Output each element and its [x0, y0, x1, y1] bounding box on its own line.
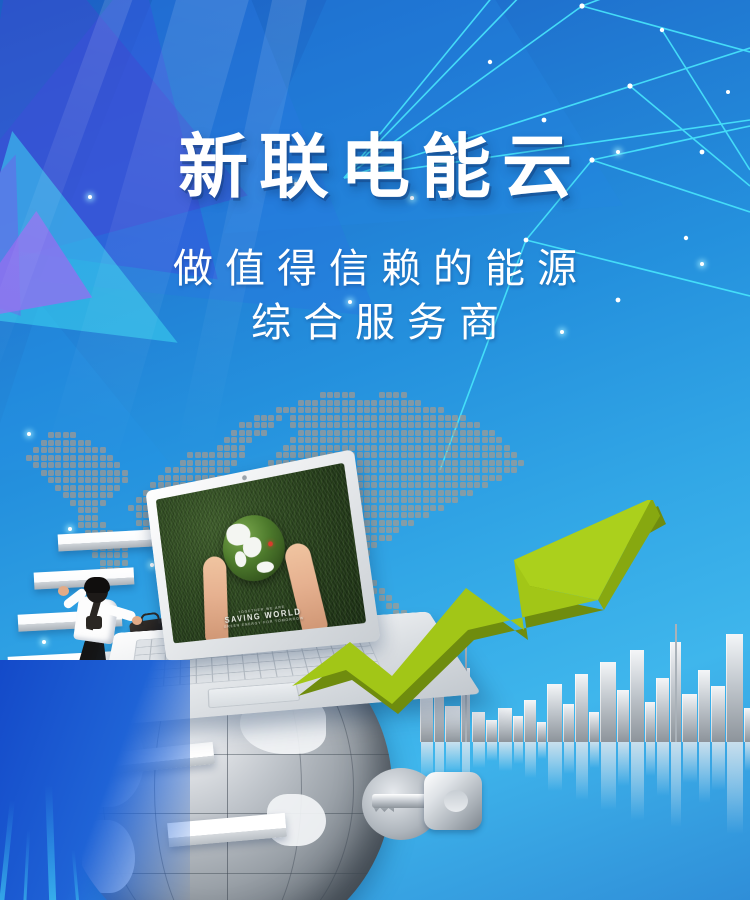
map-dot — [393, 415, 399, 421]
map-dot — [445, 490, 451, 496]
map-dot — [518, 460, 524, 466]
map-dot — [78, 470, 84, 476]
map-dot — [231, 445, 237, 451]
map-dot — [357, 407, 363, 413]
map-dot — [415, 407, 421, 413]
map-dot — [415, 430, 421, 436]
map-dot — [408, 460, 414, 466]
map-dot — [438, 445, 444, 451]
map-dot — [357, 430, 363, 436]
map-dot — [445, 452, 451, 458]
map-dot — [78, 492, 84, 498]
map-dot — [489, 460, 495, 466]
map-dot — [460, 460, 466, 466]
map-dot — [371, 445, 377, 451]
map-dot — [298, 430, 304, 436]
map-dot — [107, 470, 113, 476]
map-dot — [342, 422, 348, 428]
map-dot — [33, 462, 39, 468]
map-dot — [55, 485, 61, 491]
map-dot — [364, 400, 370, 406]
map-dot — [364, 430, 370, 436]
map-dot — [452, 437, 458, 443]
map-dot — [415, 400, 421, 406]
map-dot — [85, 500, 91, 506]
map-dot — [438, 407, 444, 413]
map-dot — [460, 415, 466, 421]
map-dot — [209, 460, 215, 466]
map-dot — [312, 415, 318, 421]
map-dot — [55, 470, 61, 476]
map-dot — [85, 522, 91, 528]
map-dot — [371, 430, 377, 436]
promo-poster: 新联电能云 做值得信赖的能源 综合服务商 — [0, 0, 750, 900]
map-dot — [305, 437, 311, 443]
map-dot — [467, 430, 473, 436]
map-dot — [55, 455, 61, 461]
map-dot — [320, 437, 326, 443]
map-dot — [423, 415, 429, 421]
map-dot — [423, 452, 429, 458]
map-dot — [327, 392, 333, 398]
map-dot — [298, 445, 304, 451]
map-dot — [85, 515, 91, 521]
map-dot — [460, 437, 466, 443]
map-dot — [460, 475, 466, 481]
map-dot — [393, 445, 399, 451]
map-dot — [327, 437, 333, 443]
map-dot — [290, 422, 296, 428]
map-dot — [85, 507, 91, 513]
map-dot — [342, 392, 348, 398]
map-dot — [379, 445, 385, 451]
map-dot — [371, 407, 377, 413]
map-dot — [452, 430, 458, 436]
map-dot — [460, 482, 466, 488]
map-dot — [371, 400, 377, 406]
map-dot — [305, 400, 311, 406]
map-dot — [504, 460, 510, 466]
map-dot — [290, 407, 296, 413]
map-dot — [423, 460, 429, 466]
map-dot — [401, 430, 407, 436]
map-dot — [474, 437, 480, 443]
map-dot — [276, 415, 282, 421]
map-dot — [48, 455, 54, 461]
map-dot — [482, 482, 488, 488]
map-dot — [327, 422, 333, 428]
map-dot — [342, 407, 348, 413]
map-dot — [92, 500, 98, 506]
screen-continent — [256, 561, 274, 574]
map-dot — [85, 485, 91, 491]
map-dot — [209, 452, 215, 458]
map-dot — [290, 415, 296, 421]
map-dot — [100, 447, 106, 453]
map-dot — [460, 422, 466, 428]
map-dot — [231, 430, 237, 436]
corner-gradient — [0, 660, 190, 900]
tagline-container: 做值得信赖的能源 综合服务商 — [0, 243, 750, 350]
map-dot — [239, 445, 245, 451]
map-dot — [224, 452, 230, 458]
laptop-trackpad — [208, 682, 301, 708]
map-dot — [246, 422, 252, 428]
map-dot — [55, 462, 61, 468]
map-dot — [261, 430, 267, 436]
map-dot — [401, 445, 407, 451]
map-dot — [357, 460, 363, 466]
map-dot — [239, 422, 245, 428]
map-dot — [386, 452, 392, 458]
map-dot — [386, 437, 392, 443]
map-dot — [452, 445, 458, 451]
map-dot — [467, 460, 473, 466]
map-dot — [408, 452, 414, 458]
map-dot — [408, 400, 414, 406]
map-dot — [334, 430, 340, 436]
map-dot — [305, 415, 311, 421]
map-dot — [100, 477, 106, 483]
map-dot — [386, 407, 392, 413]
map-dot — [474, 475, 480, 481]
map-dot — [482, 460, 488, 466]
map-dot — [460, 445, 466, 451]
map-dot — [393, 437, 399, 443]
map-dot — [408, 437, 414, 443]
light-streak — [0, 800, 15, 900]
map-dot — [511, 452, 517, 458]
map-dot — [239, 437, 245, 443]
map-dot — [41, 462, 47, 468]
map-dot — [195, 452, 201, 458]
key-bow — [424, 772, 482, 830]
map-dot — [239, 452, 245, 458]
map-dot — [334, 422, 340, 428]
map-dot — [100, 470, 106, 476]
map-dot — [393, 422, 399, 428]
map-dot — [349, 392, 355, 398]
map-dot — [423, 407, 429, 413]
brand-title: 新联电能云 — [167, 132, 583, 202]
map-dot — [283, 407, 289, 413]
map-dot — [364, 452, 370, 458]
map-dot — [379, 452, 385, 458]
map-dot — [312, 437, 318, 443]
map-dot — [357, 422, 363, 428]
map-dot — [445, 445, 451, 451]
map-dot — [379, 407, 385, 413]
map-dot — [467, 467, 473, 473]
map-dot — [100, 552, 106, 558]
map-dot — [312, 407, 318, 413]
map-dot — [107, 560, 113, 566]
map-dot — [290, 437, 296, 443]
map-dot — [379, 422, 385, 428]
map-dot — [452, 475, 458, 481]
map-dot — [408, 415, 414, 421]
map-dot — [430, 452, 436, 458]
map-dot — [327, 415, 333, 421]
map-dot — [511, 460, 517, 466]
map-dot — [364, 422, 370, 428]
map-dot — [70, 462, 76, 468]
map-dot — [371, 452, 377, 458]
map-dot — [92, 522, 98, 528]
map-dot — [489, 437, 495, 443]
map-dot — [430, 430, 436, 436]
map-dot — [408, 430, 414, 436]
map-dot — [268, 415, 274, 421]
map-dot — [298, 415, 304, 421]
map-dot — [231, 460, 237, 466]
map-dot — [496, 460, 502, 466]
map-dot — [438, 467, 444, 473]
map-dot — [393, 407, 399, 413]
map-dot — [489, 430, 495, 436]
map-dot — [195, 460, 201, 466]
map-dot — [386, 422, 392, 428]
hair — [84, 577, 110, 593]
tagline-line-2: 综合服务商 — [0, 297, 750, 351]
map-dot — [489, 467, 495, 473]
map-dot — [55, 477, 61, 483]
map-dot — [379, 415, 385, 421]
map-dot — [246, 430, 252, 436]
map-dot — [312, 422, 318, 428]
map-dot — [393, 430, 399, 436]
map-dot — [401, 400, 407, 406]
map-dot — [357, 400, 363, 406]
map-dot — [92, 447, 98, 453]
map-dot — [85, 440, 91, 446]
map-dot — [445, 482, 451, 488]
growth-arrow-icon — [292, 500, 712, 740]
map-dot — [445, 415, 451, 421]
map-dot — [63, 432, 69, 438]
map-dot — [55, 440, 61, 446]
map-dot — [438, 422, 444, 428]
map-dot — [342, 400, 348, 406]
map-dot — [78, 522, 84, 528]
map-dot — [327, 407, 333, 413]
map-dot — [327, 430, 333, 436]
map-dot — [349, 407, 355, 413]
map-dot — [438, 482, 444, 488]
map-dot — [474, 430, 480, 436]
map-dot — [41, 440, 47, 446]
map-dot — [224, 445, 230, 451]
map-dot — [386, 392, 392, 398]
light-streak — [72, 850, 84, 900]
map-dot — [482, 452, 488, 458]
map-dot — [401, 392, 407, 398]
map-dot — [482, 437, 488, 443]
map-dot — [349, 437, 355, 443]
map-dot — [107, 455, 113, 461]
map-dot — [33, 455, 39, 461]
map-dot — [511, 467, 517, 473]
map-dot — [496, 467, 502, 473]
map-dot — [504, 452, 510, 458]
map-dot — [423, 437, 429, 443]
map-dot — [107, 492, 113, 498]
map-dot — [430, 407, 436, 413]
map-dot — [364, 437, 370, 443]
map-dot — [48, 470, 54, 476]
map-dot — [482, 467, 488, 473]
map-dot — [78, 485, 84, 491]
map-dot — [107, 552, 113, 558]
map-dot — [48, 447, 54, 453]
map-dot — [320, 445, 326, 451]
map-dot — [100, 485, 106, 491]
map-dot — [452, 415, 458, 421]
map-dot — [254, 415, 260, 421]
map-dot — [401, 415, 407, 421]
map-dot — [438, 437, 444, 443]
map-dot — [349, 422, 355, 428]
map-dot — [334, 415, 340, 421]
map-dot — [217, 460, 223, 466]
map-dot — [48, 477, 54, 483]
map-dot — [467, 437, 473, 443]
map-dot — [70, 500, 76, 506]
map-dot — [261, 415, 267, 421]
map-dot — [452, 482, 458, 488]
map-dot — [393, 452, 399, 458]
map-dot — [401, 437, 407, 443]
map-dot — [305, 430, 311, 436]
map-dot — [33, 447, 39, 453]
map-dot — [474, 452, 480, 458]
map-dot — [496, 452, 502, 458]
map-dot — [85, 462, 91, 468]
map-dot — [92, 515, 98, 521]
map-dot — [107, 462, 113, 468]
map-dot — [334, 407, 340, 413]
map-dot — [100, 455, 106, 461]
hand — [58, 586, 69, 596]
map-dot — [78, 507, 84, 513]
map-dot — [474, 482, 480, 488]
map-dot — [393, 400, 399, 406]
map-dot — [438, 415, 444, 421]
map-dot — [482, 430, 488, 436]
map-dot — [349, 430, 355, 436]
map-dot — [85, 470, 91, 476]
map-dot — [415, 445, 421, 451]
map-dot — [445, 475, 451, 481]
map-dot — [423, 422, 429, 428]
map-dot — [63, 440, 69, 446]
map-dot — [100, 492, 106, 498]
map-dot — [408, 445, 414, 451]
map-dot — [467, 422, 473, 428]
map-dot — [364, 415, 370, 421]
map-dot — [415, 437, 421, 443]
map-dot — [489, 475, 495, 481]
map-dot — [187, 460, 193, 466]
map-dot — [70, 447, 76, 453]
map-dot — [298, 400, 304, 406]
map-dot — [187, 452, 193, 458]
map-dot — [298, 452, 304, 458]
map-dot — [48, 462, 54, 468]
map-dot — [467, 482, 473, 488]
map-dot — [379, 392, 385, 398]
map-dot — [496, 475, 502, 481]
map-dot — [231, 452, 237, 458]
map-dot — [85, 447, 91, 453]
brand-title-container: 新联电能云 — [0, 132, 750, 202]
map-dot — [386, 415, 392, 421]
map-dot — [371, 422, 377, 428]
map-dot — [445, 422, 451, 428]
map-dot — [357, 452, 363, 458]
map-dot — [70, 492, 76, 498]
map-dot — [401, 452, 407, 458]
map-dot — [474, 445, 480, 451]
map-dot — [357, 445, 363, 451]
map-dot — [401, 460, 407, 466]
map-dot — [415, 422, 421, 428]
map-dot — [452, 490, 458, 496]
map-dot — [430, 445, 436, 451]
map-dot — [445, 460, 451, 466]
map-dot — [349, 400, 355, 406]
map-dot — [452, 467, 458, 473]
map-dot — [63, 477, 69, 483]
map-dot — [467, 445, 473, 451]
map-dot — [92, 492, 98, 498]
key-hole — [444, 790, 468, 812]
map-dot — [379, 437, 385, 443]
map-dot — [254, 430, 260, 436]
map-dot — [423, 445, 429, 451]
map-dot — [474, 460, 480, 466]
map-dot — [460, 467, 466, 473]
map-dot — [408, 422, 414, 428]
map-dot — [305, 422, 311, 428]
map-dot — [231, 437, 237, 443]
map-dot — [41, 455, 47, 461]
map-dot — [357, 437, 363, 443]
map-dot — [445, 467, 451, 473]
map-dot — [290, 445, 296, 451]
map-dot — [268, 422, 274, 428]
map-dot — [342, 430, 348, 436]
map-dot — [283, 452, 289, 458]
map-dot — [496, 437, 502, 443]
map-dot — [415, 460, 421, 466]
map-dot — [63, 455, 69, 461]
map-dot — [26, 455, 32, 461]
map-dot — [504, 445, 510, 451]
map-dot — [92, 477, 98, 483]
map-dot — [55, 432, 61, 438]
map-dot — [100, 500, 106, 506]
map-dot — [85, 477, 91, 483]
map-dot — [364, 445, 370, 451]
map-dot — [320, 407, 326, 413]
map-dot — [63, 470, 69, 476]
map-dot — [445, 437, 451, 443]
map-dot — [48, 432, 54, 438]
map-dot — [371, 415, 377, 421]
map-dot — [63, 485, 69, 491]
map-dot — [430, 437, 436, 443]
